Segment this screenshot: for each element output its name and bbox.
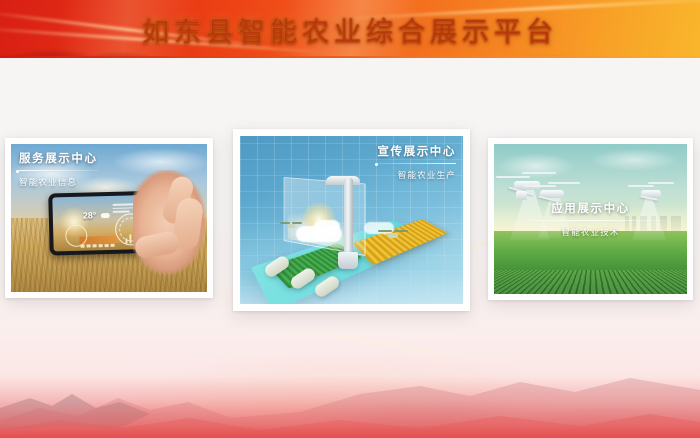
mountain-layer-near: [0, 376, 700, 438]
card-1-subtitle: 智能农业信息: [19, 176, 98, 188]
card-2-text-block: 宣传展示中心 智能农业生产: [377, 143, 456, 181]
card-service-display-center[interactable]: 28° 服务展示中心 智能农业: [5, 138, 213, 298]
thumb: [133, 230, 181, 261]
gantry-arm: [326, 176, 360, 185]
cloud-icon: [314, 220, 340, 234]
card-3-subtitle: 智能农业技术: [488, 226, 693, 238]
card-promotion-display-center[interactable]: 宣传展示中心 智能农业生产: [233, 129, 470, 311]
header-banner: 如东县智能农业综合展示平台: [0, 0, 700, 58]
card-2-bullet-dot: [375, 163, 378, 166]
card-1-bullet-dot: [16, 170, 19, 173]
app-root: 如东县智能农业综合展示平台 28°: [0, 0, 700, 438]
card-2-subtitle: 智能农业生产: [377, 169, 456, 181]
card-1-title: 服务展示中心: [19, 150, 98, 166]
card-2-title: 宣传展示中心: [377, 143, 456, 159]
hand: [133, 170, 207, 290]
drone-icon: [378, 228, 408, 241]
banner-bottom-line: [0, 56, 700, 58]
card-1-divider: [19, 170, 98, 171]
card-3-divider: [514, 220, 667, 221]
card-3-title: 应用展示中心: [488, 200, 693, 216]
gantry-pole: [344, 178, 353, 254]
drone-icon: [280, 220, 302, 230]
green-crop-field: [494, 231, 687, 294]
card-application-display-center[interactable]: 应用展示中心 智能农业技术: [488, 138, 693, 300]
card-1-text-block: 服务展示中心 智能农业信息: [19, 150, 98, 188]
card-3-text-block: 应用展示中心 智能农业技术: [488, 200, 693, 238]
crop-rows: [494, 270, 687, 294]
page-title: 如东县智能农业综合展示平台: [0, 0, 700, 58]
temperature-readout: 28°: [83, 210, 97, 220]
cloud-icon: [101, 213, 110, 218]
water-bucket: [338, 252, 358, 269]
card-2-divider: [377, 163, 456, 164]
